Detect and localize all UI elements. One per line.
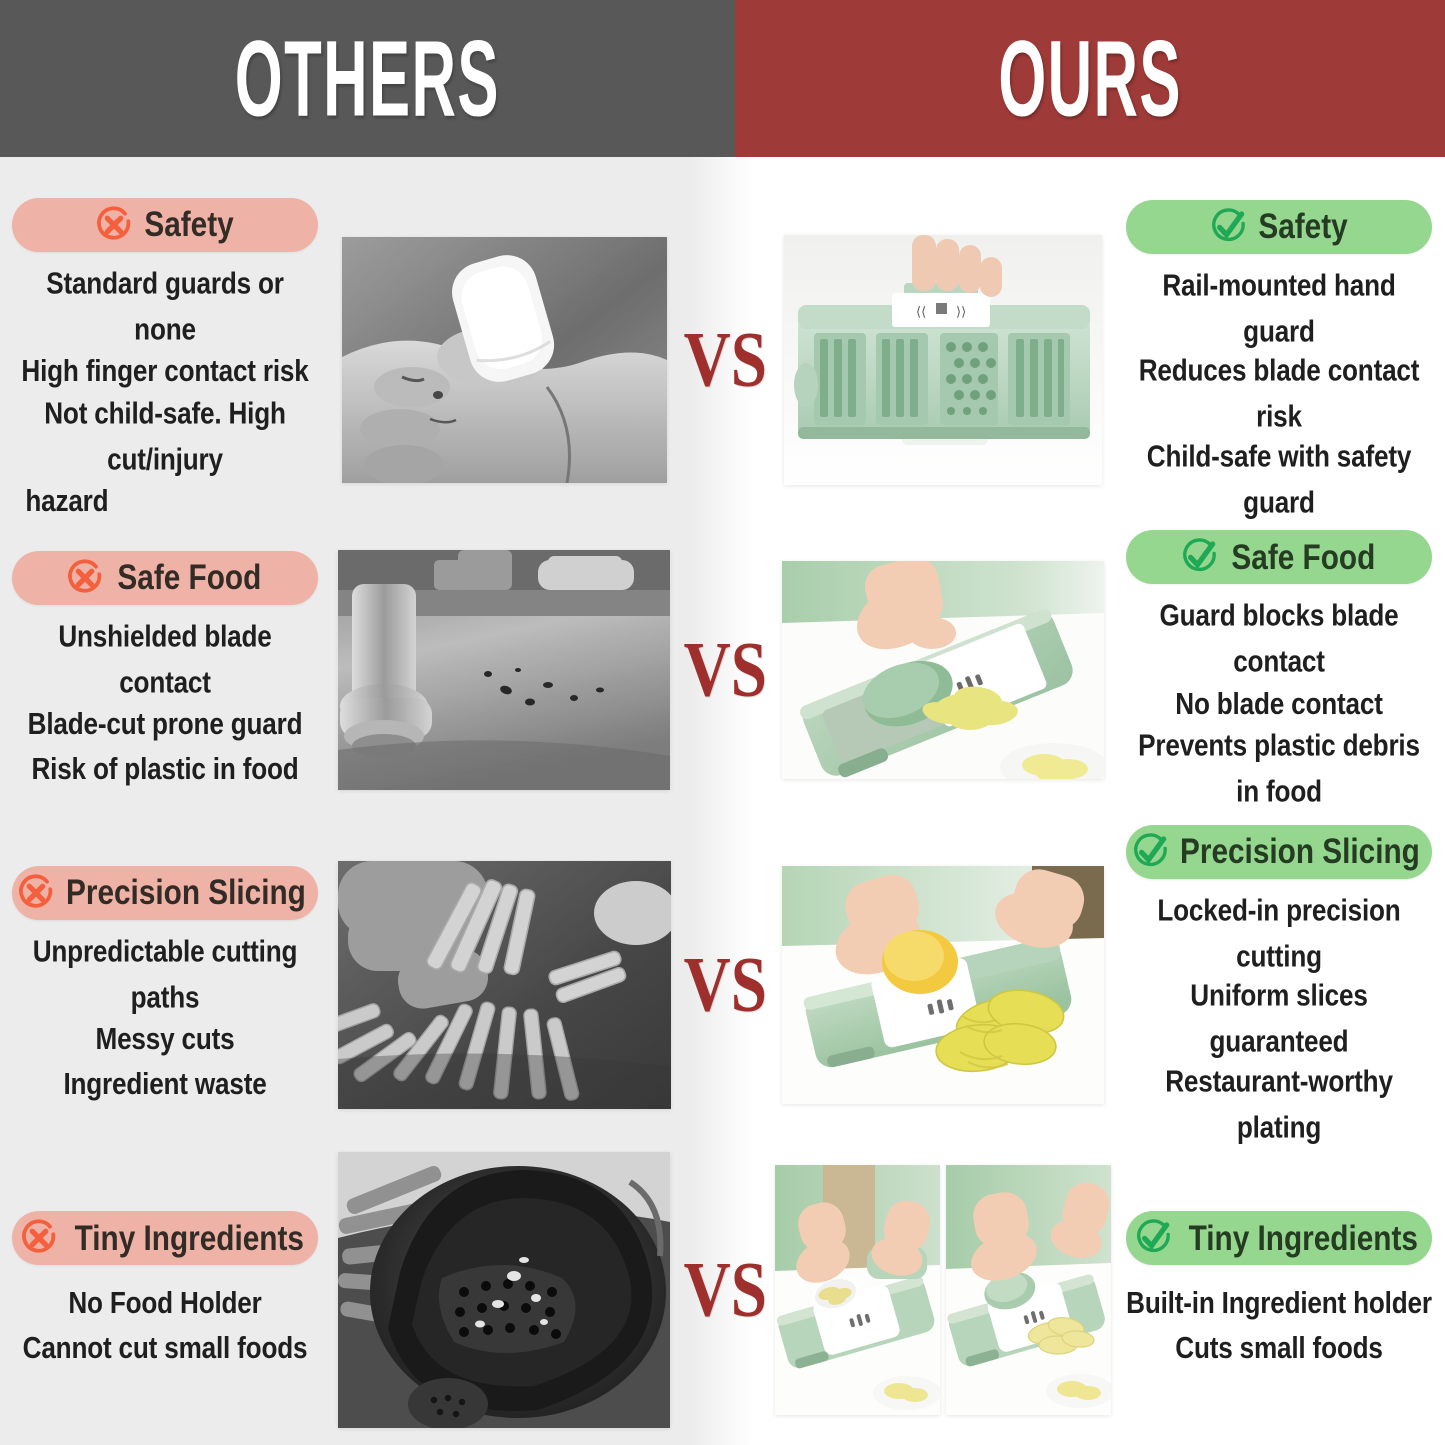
feature-line: Risk of plastic in food	[12, 746, 318, 792]
bandaged-cut-finger-photo	[342, 237, 667, 483]
ours-safe-food-text: Safe Food Guard blocks blade contact No …	[1113, 530, 1445, 809]
ours-precision-badge: Precision Slicing	[1126, 825, 1432, 879]
svg-text:⟨⟨: ⟨⟨	[916, 304, 926, 319]
feature-line: No Food Holder	[12, 1281, 318, 1327]
vs-label: VS	[684, 1251, 767, 1329]
ours-safety-text: Safety Rail-mounted hand guard Reduces b…	[1113, 200, 1445, 520]
others-tiny-lines: No Food Holder Cannot cut small foods	[4, 1283, 326, 1368]
ours-safe-food-image-slot	[773, 561, 1113, 779]
x-circle-icon	[18, 1217, 60, 1259]
header-others-panel: OTHERS	[0, 0, 735, 157]
feature-line: Reduces blade contact risk	[1125, 348, 1433, 439]
others-safety-badge-label: Safety	[144, 205, 233, 246]
feature-line: High finger contact risk	[12, 349, 318, 395]
ours-safety-lines: Rail-mounted hand guard Reduces blade co…	[1117, 268, 1441, 520]
others-tiny-badge: Tiny Ingredients	[12, 1211, 318, 1265]
others-precision-badge: Precision Slicing	[12, 866, 318, 920]
feature-line: Built-in Ingredient holder	[1125, 1281, 1433, 1327]
check-circle-icon	[1129, 831, 1171, 873]
svg-text:⟩⟩: ⟩⟩	[956, 304, 966, 319]
feature-line: Prevents plastic debris in food	[1125, 723, 1433, 814]
feature-line: Restaurant-worthy plating	[1125, 1059, 1433, 1150]
feature-line: Uniform slices guaranteed	[1125, 973, 1433, 1064]
feature-line: Cannot cut small foods	[12, 1326, 318, 1372]
ours-safe-food-badge-label: Safe Food	[1231, 537, 1375, 578]
feature-line: Child-safe with safety guard	[1125, 434, 1433, 525]
ours-precision-lines: Locked-in precision cutting Uniform slic…	[1117, 893, 1441, 1145]
others-safety-badge: Safety	[12, 198, 318, 252]
ours-precision-badge-label: Precision Slicing	[1180, 832, 1420, 873]
ours-tiny-text: Tiny Ingredients Built-in Ingredient hol…	[1113, 1211, 1445, 1368]
ours-precision-text: Precision Slicing Locked-in precision cu…	[1113, 825, 1445, 1145]
header-ours-title: OURS	[998, 16, 1182, 140]
comparison-row-precision-slicing: Precision Slicing Unpredictable cutting …	[0, 840, 1445, 1130]
ours-tiny-badge: Tiny Ingredients	[1126, 1211, 1432, 1265]
feature-line: Messy cuts	[12, 1017, 318, 1063]
feature-line: Cuts small foods	[1125, 1326, 1433, 1372]
check-circle-icon	[1178, 536, 1220, 578]
broken-black-plastic-food-holder-photo	[338, 1152, 670, 1428]
x-circle-icon	[64, 557, 106, 599]
vs-label: VS	[684, 946, 767, 1024]
ingredient-holder-photo-a	[775, 1165, 940, 1415]
slicing-potato-with-guard-photo	[782, 561, 1104, 779]
header-others-title: OTHERS	[235, 16, 500, 140]
ours-safety-image-slot: ⟨⟨⟩⟩	[773, 235, 1113, 485]
comparison-rows: Safety Standard guards or none High fing…	[0, 157, 1445, 1445]
messy-hand-cut-fries-photo	[338, 861, 671, 1109]
others-tiny-badge-label: Tiny Ingredients	[74, 1218, 303, 1259]
others-safety-text: Safety Standard guards or none High fing…	[0, 198, 330, 522]
others-safe-food-badge-label: Safe Food	[117, 557, 261, 598]
ours-tiny-lines: Built-in Ingredient holder Cuts small fo…	[1117, 1283, 1441, 1368]
others-safe-food-text: Safe Food Unshielded blade contact Blade…	[0, 551, 330, 790]
feature-line: Rail-mounted hand guard	[1125, 263, 1433, 354]
comparison-row-safe-food: Safe Food Unshielded blade contact Blade…	[0, 525, 1445, 815]
crinkle-cut-potato-slices-photo	[782, 866, 1104, 1104]
feature-line: Not child-safe. High cut/injury	[12, 391, 318, 482]
feature-line: Ingredient waste	[12, 1061, 318, 1107]
ours-safe-food-lines: Guard blocks blade contact No blade cont…	[1117, 598, 1441, 809]
ours-tiny-badge-label: Tiny Ingredients	[1188, 1218, 1417, 1259]
ours-safety-badge-label: Safety	[1258, 207, 1347, 248]
ingredient-holder-slicing-pair-photo	[775, 1165, 1111, 1415]
comparison-row-tiny-ingredients: Tiny Ingredients No Food Holder Cannot c…	[0, 1145, 1445, 1435]
vs-badge-precision: VS	[678, 948, 773, 1022]
mandoline-blade-set-with-hand-guard-photo: ⟨⟨⟩⟩	[784, 235, 1102, 485]
others-precision-text: Precision Slicing Unpredictable cutting …	[0, 866, 330, 1105]
others-tiny-text: Tiny Ingredients No Food Holder Cannot c…	[0, 1211, 330, 1368]
vs-badge-safety: VS	[678, 323, 773, 397]
x-circle-icon	[93, 204, 135, 246]
others-precision-image-slot	[330, 861, 678, 1109]
feature-line: Unpredictable cutting paths	[12, 929, 318, 1020]
others-safe-food-image-slot	[330, 550, 678, 790]
comparison-row-safety: Safety Standard guards or none High fing…	[0, 215, 1445, 505]
comparison-header: OTHERS OURS	[0, 0, 1445, 157]
vs-badge-tiny: VS	[678, 1253, 773, 1327]
others-safety-lines: Standard guards or none High finger cont…	[4, 266, 326, 522]
plastic-debris-in-sink-photo	[338, 550, 670, 790]
vs-label: VS	[684, 321, 767, 399]
others-safe-food-lines: Unshielded blade contact Blade-cut prone…	[4, 619, 326, 790]
feature-line: Blade-cut prone guard	[12, 702, 318, 748]
ours-safety-badge: Safety	[1126, 200, 1432, 254]
check-circle-icon	[1207, 206, 1249, 248]
feature-line: Standard guards or none	[12, 261, 318, 352]
ours-precision-image-slot	[773, 866, 1113, 1104]
ours-tiny-image-slot	[773, 1165, 1113, 1415]
feature-line: No blade contact	[1125, 681, 1433, 727]
header-ours-panel: OURS	[735, 0, 1445, 157]
vs-badge-safe-food: VS	[678, 633, 773, 707]
others-safe-food-badge: Safe Food	[12, 551, 318, 605]
x-circle-icon	[15, 872, 57, 914]
feature-line: hazard	[12, 479, 318, 525]
check-circle-icon	[1132, 1217, 1174, 1259]
feature-line: Unshielded blade contact	[12, 614, 318, 705]
others-precision-lines: Unpredictable cutting paths Messy cuts I…	[4, 934, 326, 1105]
feature-line: Guard blocks blade contact	[1125, 593, 1433, 684]
others-safety-image-slot	[330, 237, 678, 483]
feature-line: Locked-in precision cutting	[1125, 888, 1433, 979]
others-precision-badge-label: Precision Slicing	[66, 872, 306, 913]
ingredient-holder-photo-b	[946, 1165, 1111, 1415]
ours-safe-food-badge: Safe Food	[1126, 530, 1432, 584]
others-tiny-image-slot	[330, 1152, 678, 1428]
vs-label: VS	[684, 631, 767, 709]
